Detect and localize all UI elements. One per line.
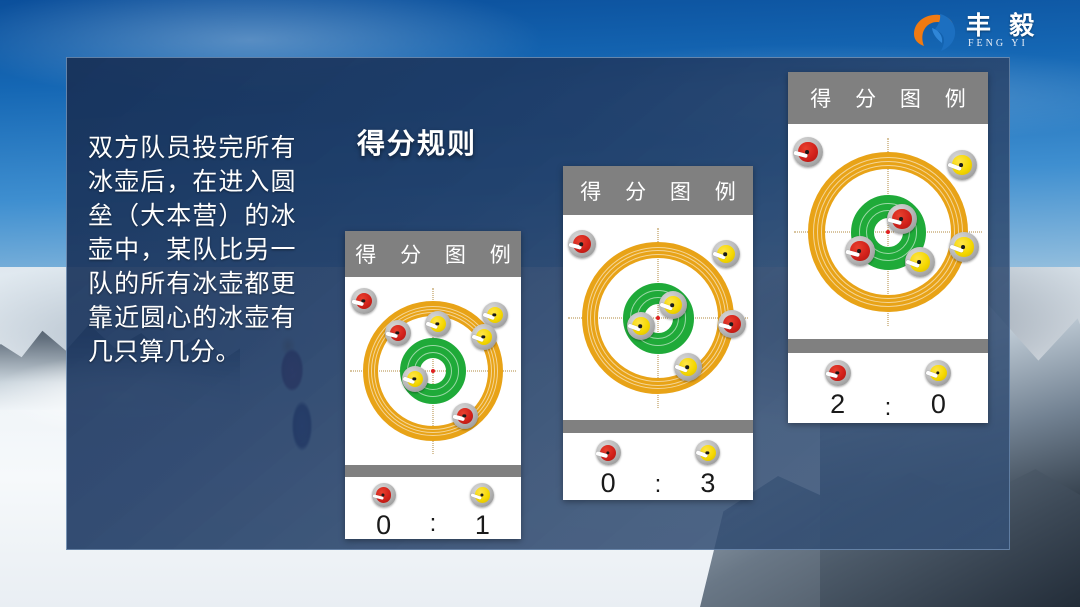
yellow-curling-stone-icon [905,247,935,277]
score-example-card: 得 分 图 例2:0 [788,72,988,423]
yellow-team-score-number: 0 [931,391,946,417]
stone-knob [959,163,963,167]
red-team-score-stone-icon [596,440,621,465]
stone-knob [961,245,965,249]
yellow-curling-stone-icon [402,366,428,392]
rule-description-text: 双方队员投完所有冰壶后，在进入圆垒（大本营）的冰壶中，某队比另一队的所有冰壶都更… [88,131,296,369]
brand-name-en: FENG YI [968,38,1028,49]
yellow-curling-stone-icon [947,150,977,180]
red-curling-stone-icon [351,288,377,314]
yellow-curling-stone-icon [712,240,740,268]
yellow-curling-stone-icon [425,311,451,337]
score-card-header: 得 分 图 例 [563,166,753,215]
swoosh-logo-icon [910,8,962,54]
red-curling-stone-icon [845,236,875,266]
score-row: 0:1 [345,477,521,539]
yellow-curling-stone-icon [674,353,702,381]
yellow-score-group: 3 [695,440,720,496]
red-curling-stone-icon [452,403,478,429]
red-curling-stone-icon [887,204,917,234]
yellow-curling-stone-icon [949,232,979,262]
brand-logo: 丰 毅 FENG YI [904,2,1072,60]
score-row: 0:3 [563,433,753,500]
red-team-score-number: 2 [830,391,845,417]
brand-name-cn: 丰 毅 [966,6,1040,42]
page-title: 得分规则 [357,122,477,162]
house-button-dot [886,230,890,234]
stone-knob [730,322,734,326]
red-curling-stone-icon [568,230,596,258]
red-team-score-number: 0 [601,470,616,496]
yellow-score-group: 0 [925,360,951,417]
curling-house-target [582,242,734,394]
score-card-divider [788,339,988,353]
stone-knob [580,242,584,246]
stone-knob [805,150,809,154]
red-curling-stone-icon [718,310,746,338]
score-card-divider [345,465,521,477]
score-card-diagram [345,277,521,465]
red-team-score-number: 0 [376,512,391,538]
score-example-card: 得 分 图 例0:3 [563,166,753,500]
score-colon: : [655,471,662,500]
red-score-group: 2 [825,360,851,417]
stone-knob [917,260,921,264]
red-curling-stone-icon [793,137,823,167]
stone-knob [724,252,728,256]
score-card-diagram [788,124,988,339]
score-colon: : [430,510,437,539]
score-card-header: 得 分 图 例 [345,231,521,277]
house-button-dot [656,316,660,320]
stone-knob [639,324,643,328]
score-row: 2:0 [788,353,988,423]
stone-knob [857,249,861,253]
red-curling-stone-icon [385,320,411,346]
yellow-team-score-stone-icon [470,483,494,507]
score-card-divider [563,420,753,433]
stone-knob [686,365,690,369]
red-score-group: 0 [596,440,621,496]
score-example-card: 得 分 图 例0:1 [345,231,521,539]
yellow-team-score-stone-icon [925,360,951,386]
score-card-header: 得 分 图 例 [788,72,988,124]
yellow-team-score-stone-icon [695,440,720,465]
house-button-dot [431,369,435,373]
yellow-score-group: 1 [470,483,494,538]
yellow-curling-stone-icon [471,324,497,350]
yellow-team-score-number: 1 [475,512,490,538]
red-team-score-stone-icon [372,483,396,507]
yellow-team-score-number: 3 [700,470,715,496]
stone-knob [671,303,675,307]
stone-knob [899,217,903,221]
yellow-curling-stone-icon [627,312,655,340]
red-score-group: 0 [372,483,396,538]
curling-house-target [808,152,968,312]
yellow-curling-stone-icon [659,291,687,319]
slide-stage: 双方队员投完所有冰壶后，在进入圆垒（大本营）的冰壶中，某队比另一队的所有冰壶都更… [0,0,1080,607]
score-card-diagram [563,215,753,420]
red-team-score-stone-icon [825,360,851,386]
score-colon: : [885,394,892,423]
